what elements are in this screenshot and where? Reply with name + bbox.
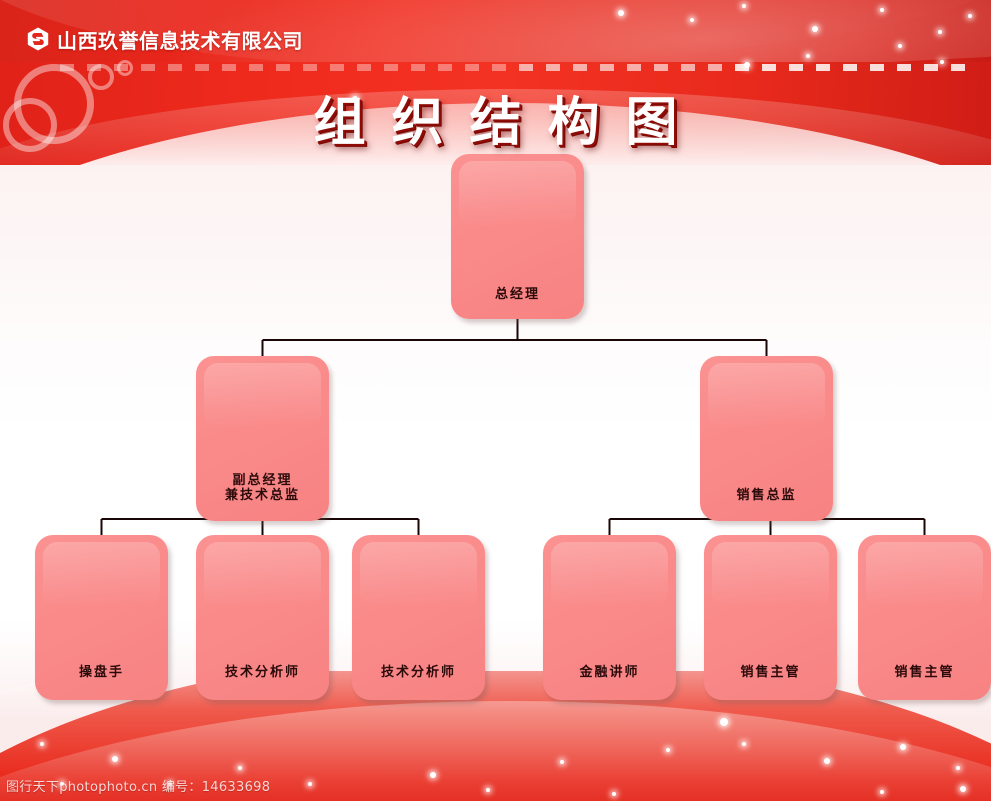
- org-node-n4: 操盘手: [35, 535, 168, 700]
- node-highlight: [712, 542, 829, 608]
- node-highlight: [360, 542, 477, 608]
- org-node-label: 金融讲师: [543, 665, 676, 680]
- node-highlight: [551, 542, 668, 608]
- org-node-n1: 总经理: [451, 154, 584, 319]
- org-node-label: 技术分析师: [196, 665, 329, 680]
- node-highlight: [43, 542, 160, 608]
- node-highlight: [204, 363, 321, 429]
- org-node-n3: 销售总监: [700, 356, 833, 521]
- org-node-label: 销售主管: [704, 665, 837, 680]
- org-node-n6: 技术分析师: [352, 535, 485, 700]
- company-name: 山西玖誉信息技术有限公司: [57, 25, 303, 54]
- org-node-label: 技术分析师: [352, 665, 485, 680]
- org-node-n2: 副总经理 兼技术总监: [196, 356, 329, 521]
- node-highlight: [459, 161, 576, 227]
- org-node-n7: 金融讲师: [543, 535, 676, 700]
- org-node-n5: 技术分析师: [196, 535, 329, 700]
- page-title: 组织结构图: [0, 80, 991, 155]
- org-node-label: 总经理: [451, 287, 584, 302]
- hexagon-s-logo-icon: [27, 27, 49, 51]
- org-node-label: 副总经理 兼技术总监: [196, 473, 329, 503]
- org-node-label: 销售总监: [700, 488, 833, 503]
- org-node-label: 销售主管: [858, 665, 991, 680]
- org-node-n8: 销售主管: [704, 535, 837, 700]
- node-highlight: [204, 542, 321, 608]
- company-identity: 山西玖誉信息技术有限公司: [27, 26, 303, 52]
- org-chart-poster: 山西玖誉信息技术有限公司 组织结构图 总经理副总经理 兼技术总监销售总监操盘手技…: [0, 0, 991, 801]
- node-highlight: [708, 363, 825, 429]
- org-node-n9: 销售主管: [858, 535, 991, 700]
- org-node-label: 操盘手: [35, 665, 168, 680]
- node-highlight: [866, 542, 983, 608]
- watermark: 图行天下photophoto.cn 编号：14633698: [6, 776, 270, 795]
